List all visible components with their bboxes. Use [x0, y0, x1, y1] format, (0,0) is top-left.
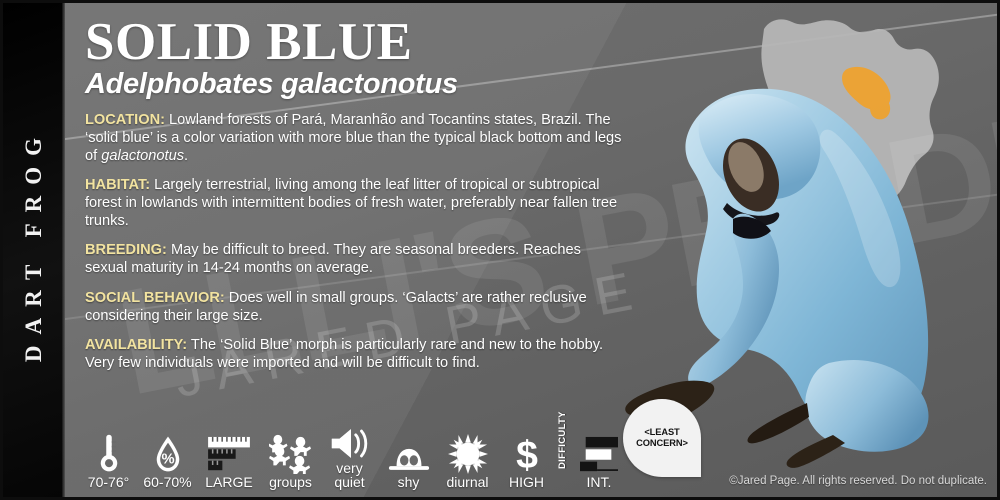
fact-location: LOCATION: Lowland forests of Pará, Maran… [85, 111, 625, 165]
fact-key: SOCIAL BEHAVIOR: [85, 290, 225, 306]
dollar-sign-icon: $ [513, 432, 541, 474]
fact-text: Largely terrestrial, living among the le… [85, 177, 617, 229]
care-label: groups [269, 475, 312, 489]
scientific-name: Adelphobates galactonotus [85, 69, 630, 101]
fact-breeding: BREEDING: May be difficult to breed. The… [85, 241, 625, 277]
fact-key: BREEDING: [85, 242, 167, 258]
svg-text:$: $ [516, 434, 538, 474]
speaker-volume-icon [328, 418, 372, 460]
spine-label: DART FROG [21, 127, 47, 373]
care-item-temperature: 70-76° [79, 432, 138, 489]
spine-bar: DART FROG [3, 3, 65, 497]
care-item-cost: $ HIGH [497, 432, 556, 489]
care-item-grouping: groups [261, 432, 320, 489]
svg-text:%: % [161, 452, 174, 468]
thermometer-icon [98, 432, 120, 474]
care-item-humidity: % 60-70% [138, 432, 197, 489]
fact-habitat: HABITAT: Largely terrestrial, living amo… [85, 176, 625, 230]
care-label: shy [398, 475, 420, 489]
fact-key: AVAILABILITY: [85, 337, 187, 353]
care-label: HIGH [509, 475, 544, 489]
fact-list: LOCATION: Lowland forests of Pará, Maran… [85, 111, 630, 372]
care-label: 70-76° [88, 475, 129, 489]
status-badge: <LEAST CONCERN> [623, 399, 701, 477]
copyright-notice: ©Jared Page. All rights reserved. Do not… [729, 475, 987, 487]
fact-key: HABITAT: [85, 177, 150, 193]
frog-mid-foot-icon [748, 403, 810, 443]
conservation-status-text: <LEAST CONCERN> [636, 427, 688, 450]
group-frogs-icon [269, 432, 313, 474]
care-item-activity: diurnal [438, 432, 497, 489]
species-care-label: LLLI'S PET DESIGN JARED PAGE [0, 0, 1000, 500]
difficulty-value: INT. [587, 475, 612, 489]
care-label: very quiet [334, 461, 364, 489]
care-item-volume: very quiet [320, 418, 379, 489]
care-label: 60-70% [143, 475, 191, 489]
sun-icon [448, 432, 488, 474]
care-icon-row: 70-76° % 60-70% [79, 418, 629, 489]
text-column: SOLID BLUE Adelphobates galactonotus LOC… [85, 17, 630, 383]
difficulty-bars-icon [578, 432, 620, 474]
fact-key: LOCATION: [85, 112, 165, 128]
fact-tail: . [184, 148, 188, 164]
care-label: diurnal [446, 475, 488, 489]
hiding-frog-icon [387, 432, 431, 474]
care-label: LARGE [205, 475, 252, 489]
fact-availability: AVAILABILITY: The ‘Solid Blue’ morph is … [85, 336, 625, 372]
humidity-droplet-icon: % [155, 432, 181, 474]
spine-edge [62, 3, 65, 497]
size-ruler-icon [206, 432, 252, 474]
page-title: SOLID BLUE [85, 17, 630, 68]
fact-italic: galactonotus [101, 148, 184, 164]
frog-rear-foot-icon [787, 435, 845, 468]
care-item-difficulty: DIFFICULTY INT. [558, 427, 629, 489]
difficulty-label: DIFFICULTY [558, 427, 568, 469]
care-item-temperament: shy [379, 432, 438, 489]
fact-social-behavior: SOCIAL BEHAVIOR: Does well in small grou… [85, 289, 625, 325]
care-item-size: LARGE [197, 432, 261, 489]
difficulty-meter: INT. [570, 432, 629, 489]
